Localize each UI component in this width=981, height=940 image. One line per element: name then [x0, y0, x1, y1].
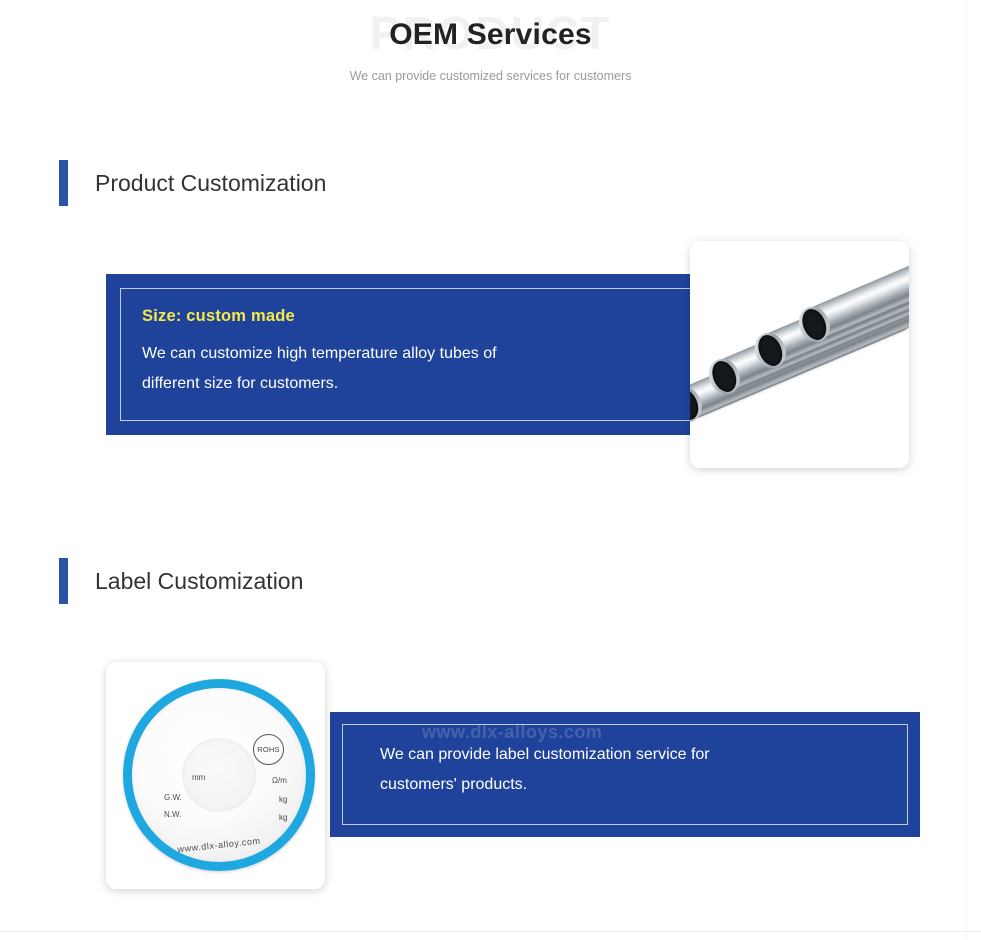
spool-field-kg-1: kg [279, 795, 287, 804]
spool-label-url: www.dlx-alloy.com [132, 831, 306, 859]
spool-label-photo: ROHS mm G.W. N.W. Ω/m kg kg www.dlx-allo… [123, 679, 315, 871]
product-info-panel: Size: custom made We can customize high … [106, 274, 730, 435]
spool-label-image-card: ROHS mm G.W. N.W. Ω/m kg kg www.dlx-allo… [106, 662, 325, 889]
product-panel-line-2: different size for customers. [142, 369, 690, 399]
section-title-product: Product Customization [95, 170, 326, 197]
spool-field-net-weight: N.W. [164, 810, 181, 819]
label-content-row: ROHS mm G.W. N.W. Ω/m kg kg www.dlx-allo… [0, 662, 981, 912]
page-header: PRODUCT OEM Services We can provide cust… [0, 0, 981, 83]
label-panel-line-1: We can provide label customization servi… [380, 740, 880, 770]
section-title-label: Label Customization [95, 568, 303, 595]
section-header-label: Label Customization [0, 558, 981, 604]
section-accent-bar [59, 160, 68, 206]
label-info-panel: www.dlx-alloys.com We can provide label … [330, 712, 920, 837]
product-panel-line-1: We can customize high temperature alloy … [142, 339, 690, 369]
section-accent-bar [59, 558, 68, 604]
spool-field-kg-2: kg [279, 813, 287, 822]
label-panel-line-2: customers' products. [380, 770, 880, 800]
rohs-icon: ROHS [253, 734, 284, 765]
label-panel-text: We can provide label customization servi… [380, 740, 880, 800]
spool-field-resistance: Ω/m [272, 776, 287, 785]
product-content-row: Size: custom made We can customize high … [0, 274, 981, 524]
page-title: OEM Services [0, 18, 981, 52]
section-label-customization: Label Customization ROHS mm G.W. N.W. Ω/… [0, 558, 981, 912]
page-bottom-divider [0, 931, 981, 932]
product-size-highlight: Size: custom made [142, 307, 690, 326]
product-panel-text: Size: custom made We can customize high … [142, 307, 690, 399]
alloy-tubes-photo [690, 241, 909, 468]
page-subtitle: We can provide customized services for c… [0, 69, 981, 83]
spool-field-mm: mm [192, 773, 205, 782]
section-header-product: Product Customization [0, 160, 981, 206]
spool-field-gross-weight: G.W. [164, 793, 182, 802]
alloy-tubes-image-card [690, 241, 909, 468]
section-product-customization: Product Customization Size: custom made … [0, 160, 981, 524]
